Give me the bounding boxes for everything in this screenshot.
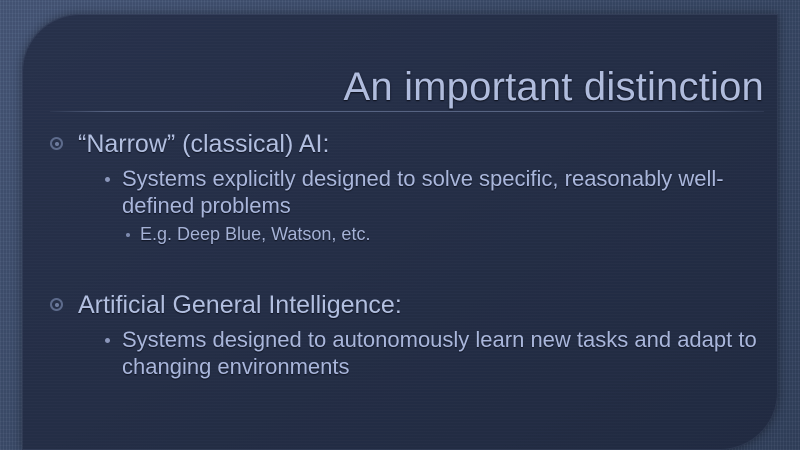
page-title: An important distinction [343,66,764,108]
slide-canvas: An important distinction “Narrow” (class… [0,0,800,450]
bullet-level1-label: “Narrow” (classical) AI: [78,130,329,158]
bullet-level1-agi: Artificial General Intelligence: [48,289,764,322]
bullet-level1-label: Artificial General Intelligence: [78,291,402,319]
dot-bullet-icon [105,338,110,343]
ring-dot-bullet-icon [50,298,63,311]
slide-content-panel: An important distinction “Narrow” (class… [22,14,778,450]
bullet-level1-narrow-ai: “Narrow” (classical) AI: [48,128,764,161]
ring-dot-bullet-icon [50,137,63,150]
title-area: An important distinction [48,40,764,112]
bullet-level2-label: Systems designed to autonomously learn n… [122,327,757,380]
bullet-level2-narrow-ai-point: Systems explicitly designed to solve spe… [48,165,762,220]
dot-bullet-icon [105,177,110,182]
bullet-level2-agi-point: Systems designed to autonomously learn n… [48,326,762,381]
bullet-level3-narrow-ai-example: E.g. Deep Blue, Watson, etc. [48,223,764,246]
slide-body: “Narrow” (classical) AI: Systems explici… [48,118,764,381]
small-dot-bullet-icon [126,233,130,237]
group-spacer [48,245,764,279]
title-divider [50,111,764,112]
bullet-level2-label: Systems explicitly designed to solve spe… [122,166,724,219]
bullet-level3-label: E.g. Deep Blue, Watson, etc. [140,224,370,244]
